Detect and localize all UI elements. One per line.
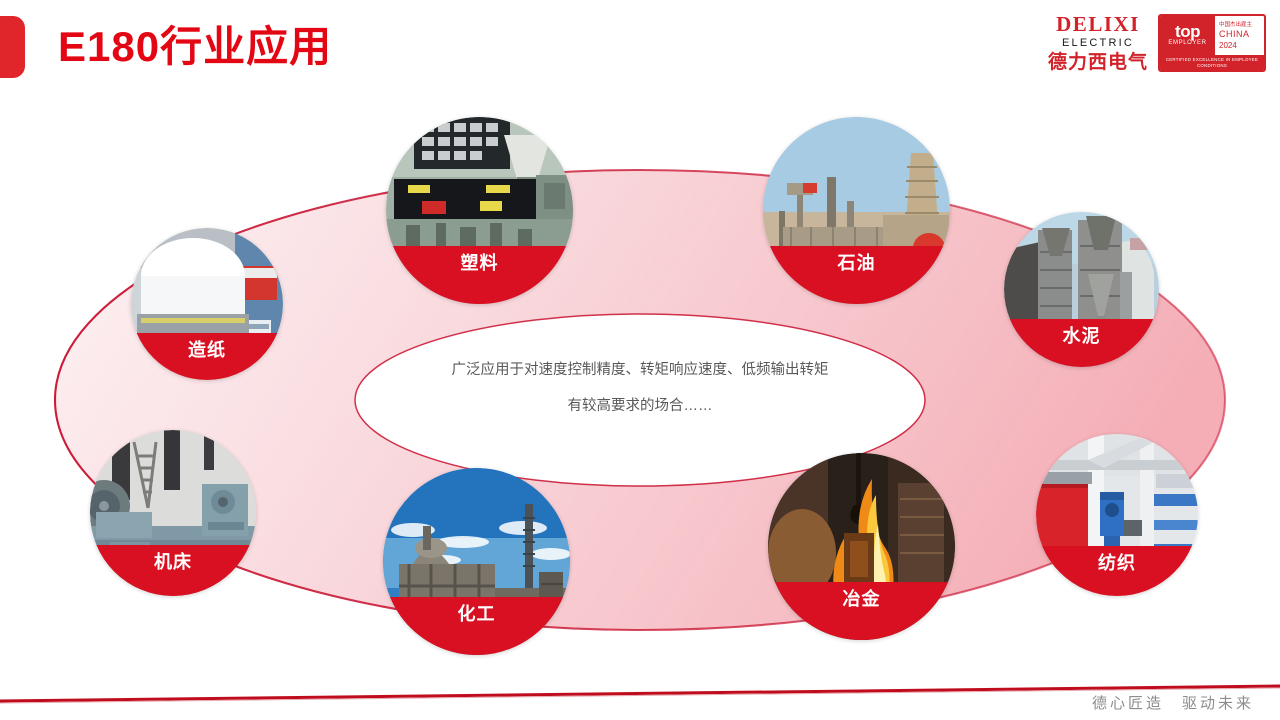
industry-label-metallurgy: 冶金 <box>768 582 955 640</box>
industry-label-machine-tool: 机床 <box>90 545 256 596</box>
industry-node-chemical[interactable]: 化工 <box>383 468 570 655</box>
center-caption-line-1: 广泛应用于对速度控制精度、转矩响应速度、低频输出转矩 <box>360 352 920 388</box>
industry-node-cement[interactable]: 水泥 <box>1004 212 1159 367</box>
industry-label-textile: 纺织 <box>1036 546 1198 596</box>
industry-node-papermaking[interactable]: 造纸 <box>131 228 283 380</box>
industry-node-textile[interactable]: 纺织 <box>1036 434 1198 596</box>
center-caption: 广泛应用于对速度控制精度、转矩响应速度、低频输出转矩 有较高要求的场合…… <box>360 352 920 424</box>
industry-label-chemical: 化工 <box>383 597 570 655</box>
industry-label-cement: 水泥 <box>1004 319 1159 367</box>
industry-label-petroleum: 石油 <box>763 246 950 304</box>
industry-label-plastics: 塑料 <box>386 246 573 304</box>
slide-canvas: E180行业应用 DELIXI ELECTRIC 德力西电气 top EMPLO… <box>0 0 1280 720</box>
industry-node-machine-tool[interactable]: 机床 <box>90 430 256 596</box>
industry-node-petroleum[interactable]: 石油 <box>763 117 950 304</box>
industry-label-papermaking: 造纸 <box>131 333 283 380</box>
industry-node-metallurgy[interactable]: 冶金 <box>768 453 955 640</box>
center-caption-line-2: 有较高要求的场合…… <box>360 388 920 424</box>
industry-node-plastics[interactable]: 塑料 <box>386 117 573 304</box>
footer-slogan: 德心匠造 驱动未来 <box>1092 692 1254 713</box>
